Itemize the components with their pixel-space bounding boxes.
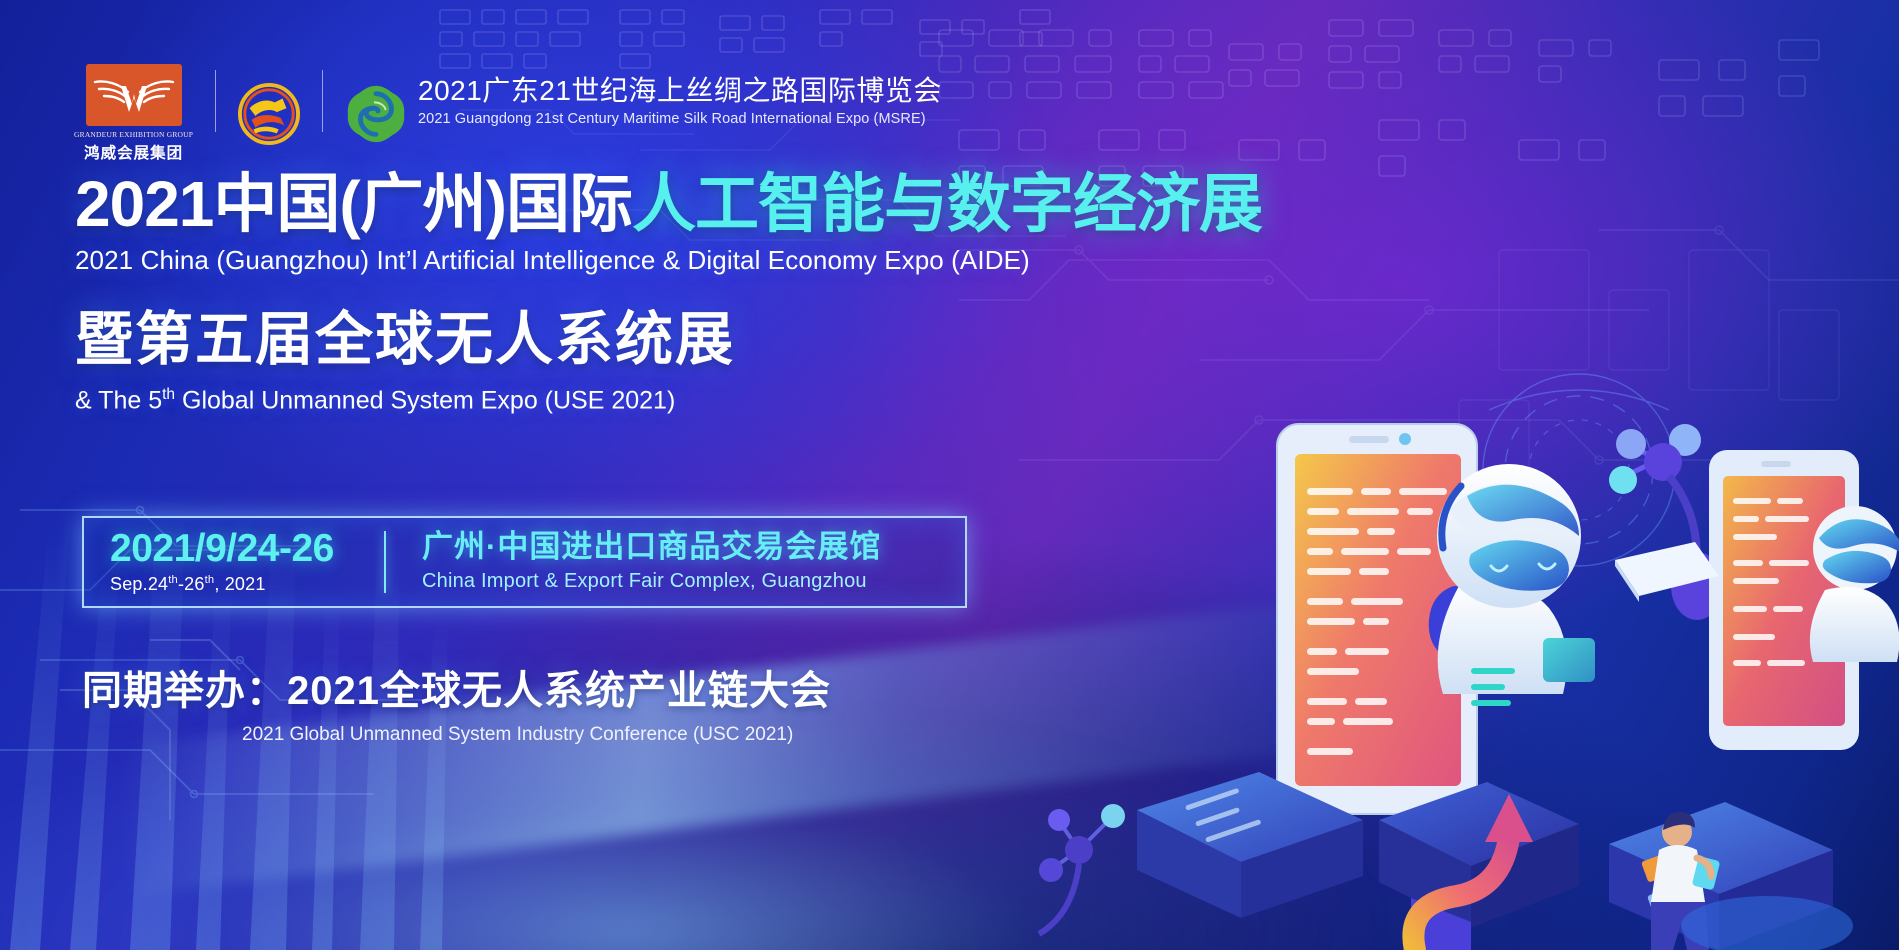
logo-en-text: GRANDEUR EXHIBITION GROUP: [74, 130, 193, 139]
robot-character: [1437, 464, 1595, 706]
molecule-right-icon: [1609, 424, 1723, 620]
info-divider: [384, 531, 386, 593]
date-primary: 2021/9/24-26: [110, 529, 384, 568]
wings-mark-icon: [91, 72, 177, 118]
expo-title-cn: 2021广东21世纪海上丝绸之路国际博览会: [418, 74, 942, 107]
main-title-line1-highlight: 人工智能与数字经济展: [632, 168, 1262, 240]
logo-cn-text: 鸿威会展集团: [84, 141, 183, 163]
venue-en: China Import & Export Fair Complex, Guan…: [422, 570, 881, 593]
expo-header: 2021广东21世纪海上丝绸之路国际博览会 2021 Guangdong 21s…: [418, 74, 942, 127]
date-sec-pre: Sep.24: [110, 574, 168, 594]
date-sec-mid: -26: [178, 574, 205, 594]
grandeur-wings-icon: [86, 64, 182, 126]
line2-en-pre: & The 5: [75, 387, 162, 415]
main-title-line1-white: 2021中国(广州)国际: [75, 168, 632, 240]
logo-row: GRANDEUR EXHIBITION GROUP 鸿威会展集团: [74, 64, 407, 163]
conference-block: 同期举办：2021全球无人系统产业链大会 2021 Global Unmanne…: [82, 658, 831, 746]
expo-title-en: 2021 Guangdong 21st Century Maritime Sil…: [418, 111, 942, 127]
logo-grandeur-exhibition-group: GRANDEUR EXHIBITION GROUP 鸿威会展集团: [74, 64, 193, 163]
venue-group: 广州·中国进出口商品交易会展馆 China Import & Export Fa…: [396, 531, 881, 593]
main-title-line1-en: 2021 China (Guangzhou) Int’l Artificial …: [75, 245, 1262, 276]
venue-cn: 广州·中国进出口商品交易会展馆: [422, 531, 881, 564]
molecule-left-icon: [1039, 804, 1125, 934]
line2-en-post: Global Unmanned System Expo (USE 2021): [175, 387, 675, 415]
date-venue-box: 2021/9/24-26 Sep.24th-26th, 2021 广州·中国进出…: [82, 516, 967, 608]
date-secondary: Sep.24th-26th, 2021: [110, 574, 384, 595]
date-group: 2021/9/24-26 Sep.24th-26th, 2021: [84, 529, 384, 595]
line2-en-sup: th: [162, 386, 175, 403]
logo-divider-2: [322, 70, 323, 132]
conference-en: 2021 Global Unmanned System Industry Con…: [242, 724, 831, 746]
gold-circle-emblem-icon: [238, 83, 300, 145]
main-title-line1: 2021中国(广州)国际人工智能与数字经济展: [75, 172, 1262, 237]
conference-cn: 同期举办：2021全球无人系统产业链大会: [82, 658, 831, 716]
logo-divider-1: [215, 70, 216, 132]
date-sec-post: , 2021: [214, 574, 265, 594]
date-sec-sup1: th: [168, 574, 178, 586]
ai-robot-illustration: [1019, 350, 1899, 950]
date-sec-sup2: th: [205, 574, 215, 586]
expo-poster: GRANDEUR EXHIBITION GROUP 鸿威会展集团 2021广东2…: [0, 0, 1899, 950]
green-silk-road-emblem-icon: [345, 83, 407, 145]
